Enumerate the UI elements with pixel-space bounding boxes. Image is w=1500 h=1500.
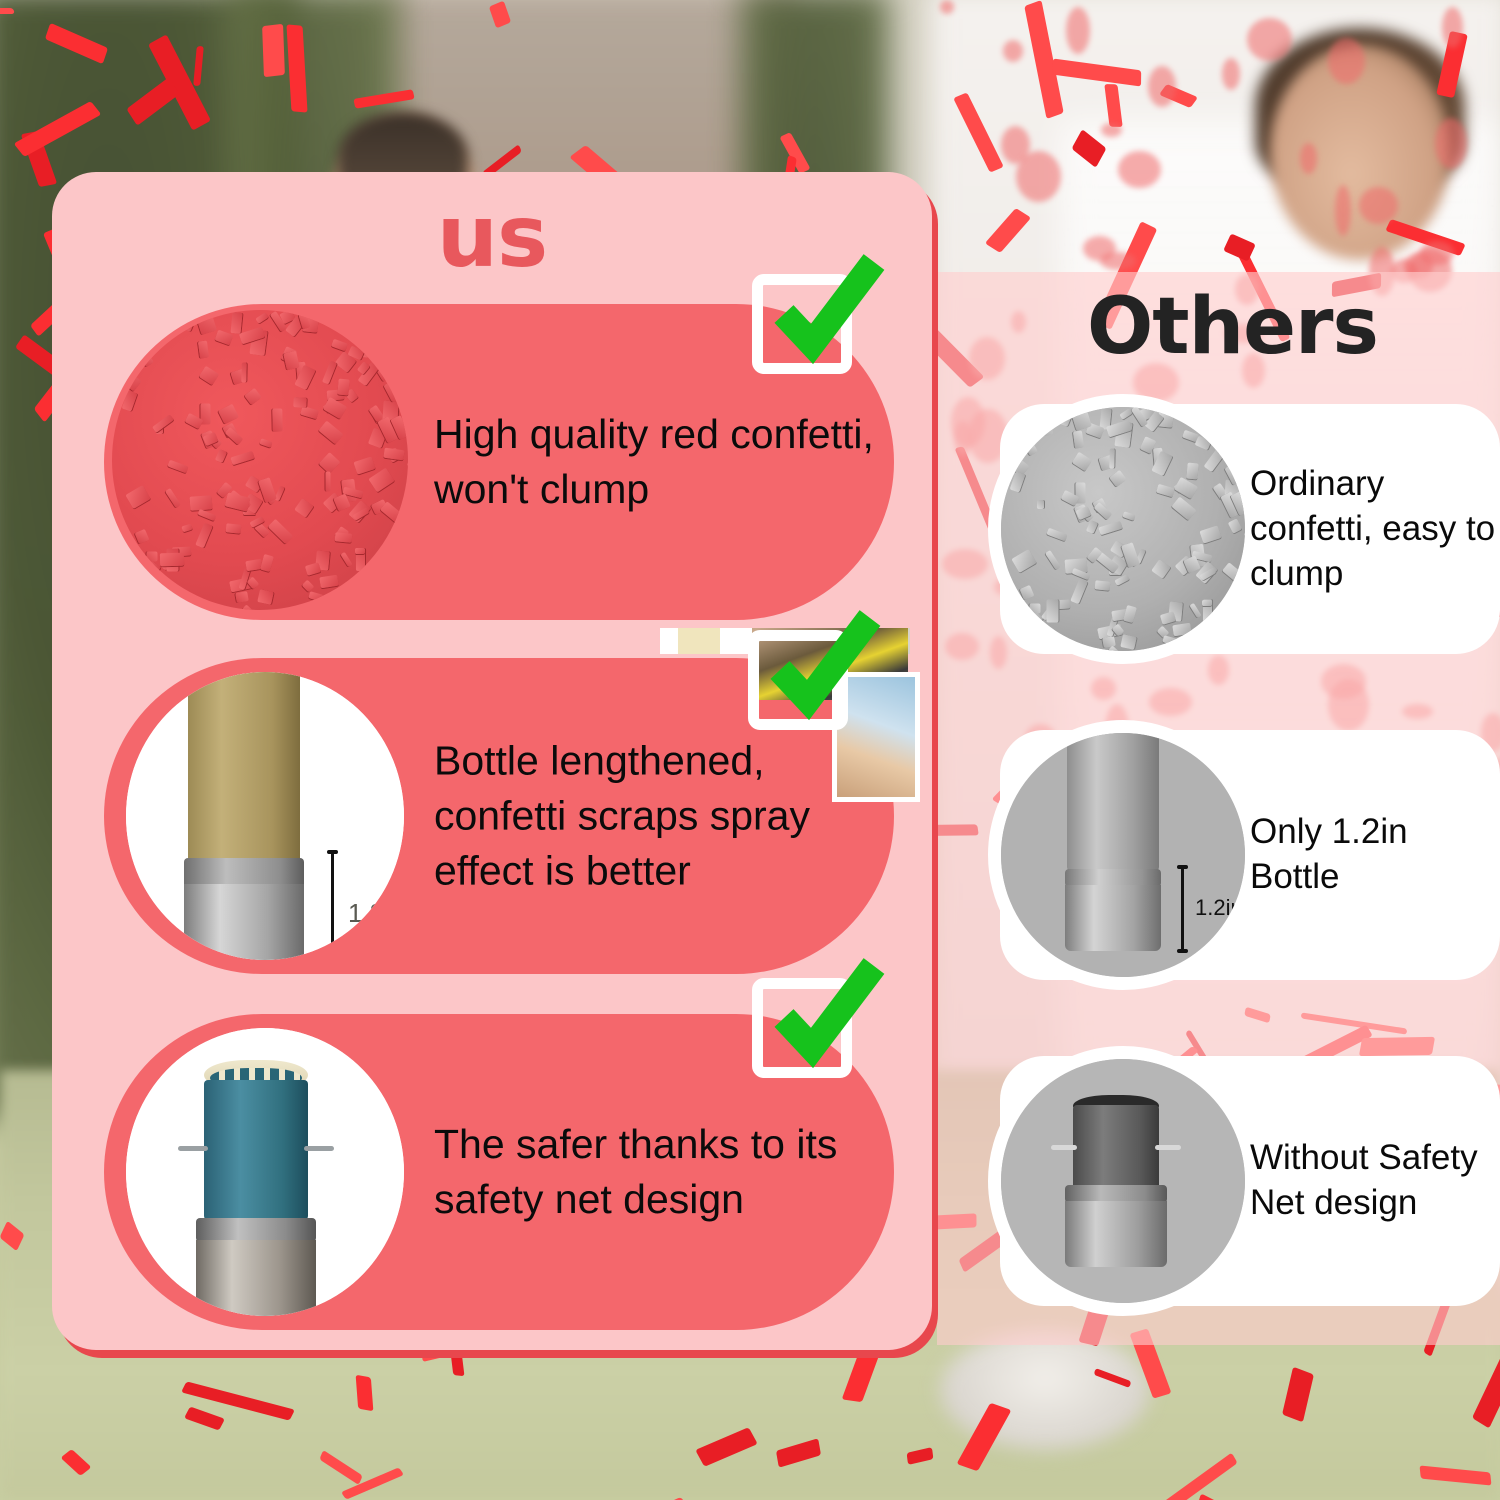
safety-net-cannon-thumbnail	[126, 1028, 404, 1316]
check-icon	[758, 604, 886, 732]
others-panel-title: Others	[937, 288, 1500, 366]
us-feature-text: Bottle lengthened, confetti scraps spray…	[434, 734, 864, 899]
others-feature-text: Without Safety Net design	[1250, 1136, 1500, 1226]
checkmark-badge	[752, 274, 852, 374]
lengthened-bottle-thumbnail: 1.8in	[126, 672, 404, 960]
others-bottle-measurement: 1.2in	[1195, 895, 1243, 921]
red-confetti-thumbnail	[112, 310, 408, 610]
us-bottle-measurement: 1.8in	[348, 898, 404, 929]
check-icon	[762, 952, 890, 1080]
infographic-canvas: us High quality red confetti, won't clum…	[0, 0, 1500, 1500]
gray-confetti-thumbnail	[988, 394, 1258, 664]
background-bride-face	[1270, 45, 1450, 260]
others-feature-card: 1.2in Only 1.2in Bottle	[1000, 730, 1500, 980]
short-bottle-thumbnail: 1.2in	[988, 720, 1258, 990]
others-feature-text: Only 1.2in Bottle	[1250, 810, 1500, 900]
check-icon	[762, 248, 890, 376]
others-feature-card: Ordinary confetti, easy to clump	[1000, 404, 1500, 654]
others-feature-text: Ordinary confetti, easy to clump	[1250, 462, 1500, 596]
background-bride-shoe	[940, 1330, 1150, 1450]
plain-cannon-thumbnail	[988, 1046, 1258, 1316]
others-feature-card: Without Safety Net design	[1000, 1056, 1500, 1306]
us-feature-text: The safer thanks to its safety net desig…	[434, 1117, 864, 1227]
us-feature-text: High quality red confetti, won't clump	[434, 407, 874, 517]
checkmark-badge	[752, 978, 852, 1078]
checkmark-badge	[748, 630, 848, 730]
